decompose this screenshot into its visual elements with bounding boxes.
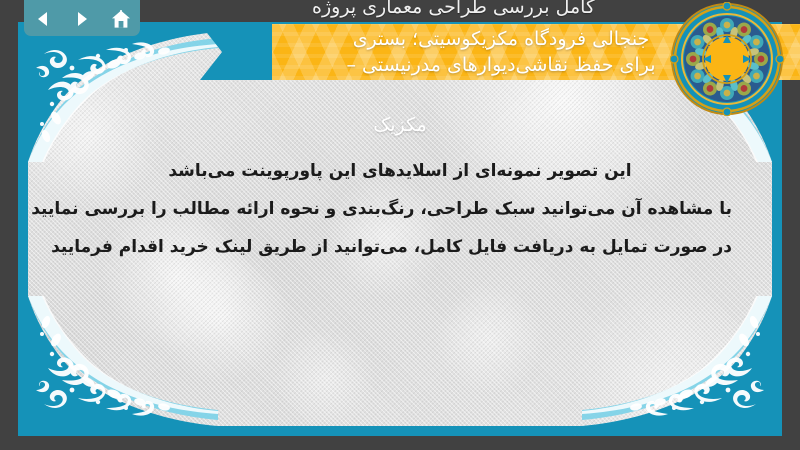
corner-ornament-bottom-right: [582, 296, 772, 426]
body-line-1: این تصویر نمونه‌ای از اسلایدهای این پاور…: [68, 152, 732, 190]
slide-viewer: کامل بررسی طراحی معماری پروژه: [0, 0, 800, 450]
slide-body-text: این تصویر نمونه‌ای از اسلایدهای این پاور…: [68, 152, 732, 266]
banner-line-1: جنجالی فرودگاه مکزیکوسیتی؛ بستری: [286, 26, 716, 52]
slide-frame: این تصویر نمونه‌ای از اسلایدهای این پاور…: [18, 22, 782, 436]
body-line-3: در صورت تمایل به دریافت فایل کامل، می‌تو…: [68, 228, 732, 266]
corner-ornament-top-left: [28, 32, 218, 162]
page-title: کامل بررسی طراحی معماری پروژه: [312, 0, 595, 18]
navigation-toolbar: [24, 0, 140, 36]
slide-canvas: این تصویر نمونه‌ای از اسلایدهای این پاور…: [28, 32, 772, 426]
previous-slide-button[interactable]: [29, 6, 57, 32]
banner-text: جنجالی فرودگاه مکزیکوسیتی؛ بستری برای حف…: [286, 26, 716, 78]
persian-medallion-icon: [670, 2, 784, 116]
banner-ribbon-tail: [200, 24, 274, 80]
slide-subtitle: مکزیک: [28, 114, 772, 136]
forward-arrow-icon: [73, 10, 91, 28]
next-slide-button[interactable]: [68, 6, 96, 32]
banner-line-2: برای حفظ نقاشی‌دیوارهای مدرنیستی –: [286, 52, 716, 78]
corner-ornament-bottom-left: [28, 296, 218, 426]
home-icon: [111, 10, 131, 29]
body-line-2: با مشاهده آن می‌توانید سبک طراحی، رنگ‌بن…: [68, 190, 732, 228]
home-button[interactable]: [107, 6, 135, 32]
back-arrow-icon: [34, 10, 52, 28]
